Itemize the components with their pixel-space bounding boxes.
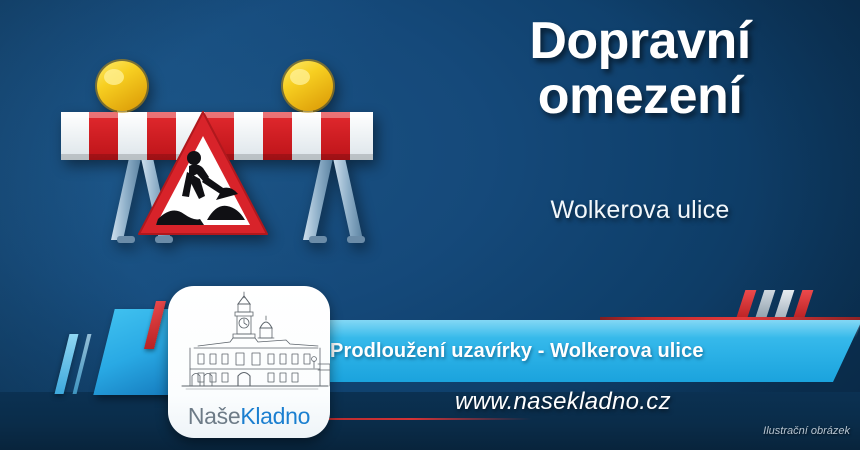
kladno-town-hall-sketch: [168, 290, 330, 394]
logo-word-nase: Naše: [188, 403, 241, 429]
warning-lamp-left: [95, 59, 149, 113]
url-slash-red-2: [794, 290, 814, 317]
logo-card[interactable]: NašeKladno: [168, 286, 330, 438]
website-url[interactable]: www.nasekladno.cz: [455, 388, 671, 416]
warning-lamp-right: [281, 59, 335, 113]
footer-banner: Prodloužení uzavírky - Wolkerova ulice w…: [0, 268, 860, 450]
road-closed-barrier-illustration: [55, 50, 435, 255]
red-divider-top: [600, 317, 860, 320]
logo-word-kladno: Kladno: [240, 403, 310, 429]
banner-headline: Prodloužení uzavírky - Wolkerova ulice: [330, 330, 850, 372]
url-slash-gray-2: [775, 290, 795, 317]
poster-root: Dopravní omezení Wolkerova ulice Prodlou…: [0, 0, 860, 450]
website-url-wrap[interactable]: www.nasekladno.cz: [455, 384, 745, 420]
url-slash-gray-1: [756, 290, 776, 317]
logo-wordmark: NašeKladno: [168, 403, 330, 430]
page-title: Dopravní omezení: [430, 14, 850, 124]
page-subtitle: Wolkerova ulice: [430, 196, 850, 225]
illustration-note: Ilustrační obrázek: [763, 425, 850, 437]
url-slash-red-1: [737, 290, 757, 317]
